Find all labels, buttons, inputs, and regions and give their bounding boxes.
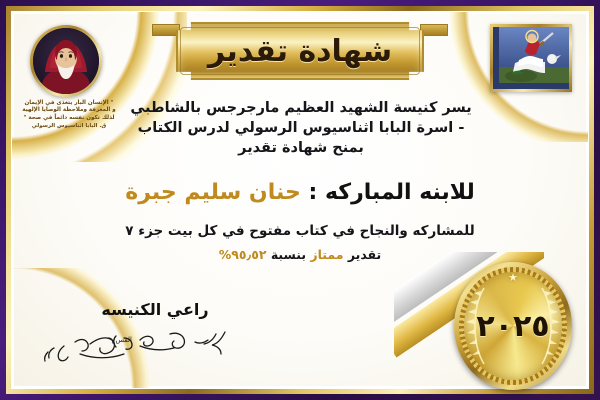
grade-percent: ٩٥٫٥٢% — [219, 247, 267, 262]
achievement-text: للمشاركه والنجاح في كتاب مفتوح في كل بيت… — [70, 222, 530, 241]
left-portrait — [30, 25, 102, 97]
saint-george-icon — [490, 24, 572, 92]
signature-handwriting: القس/ — [20, 318, 270, 368]
plaque-tail-right — [420, 24, 448, 36]
grade-line: تقدير ممتاز بنسبة ٩٥٫٥٢% — [70, 246, 530, 263]
signature-scribble-text: القس/ — [113, 336, 132, 344]
recipient-name: حنان سليم جبرة — [125, 180, 301, 205]
medal-star-icon: ★ — [508, 271, 518, 284]
signature-title: راعي الكنيسه — [60, 300, 250, 319]
certificate-body: يسر كنيسة الشهيد العظيم مارجرجس بالشاطبي… — [120, 98, 482, 158]
body-line-2: - اسرة البابا اثناسيوس الرسولي لدرس الكت… — [120, 118, 482, 138]
certificate-canvas: شهادة تقدير — [0, 0, 600, 400]
medal-year: ٢٠٢٥ — [476, 309, 549, 344]
quote-line-3: لذلك تكون نفسه دائماً في صحة " — [10, 115, 128, 122]
certificate-title: شهادة تقدير — [176, 22, 424, 80]
title-plaque: شهادة تقدير — [176, 22, 424, 80]
body-line-1: يسر كنيسة الشهيد العظيم مارجرجس بالشاطبي — [120, 98, 482, 118]
grade-value: ممتاز — [310, 247, 343, 262]
saint-portrait-icon — [33, 28, 99, 94]
saint-quote: " الإنسان البار يتغذى في الإيمان و المعر… — [10, 100, 128, 131]
medal-face: ٢٠٢٥ — [464, 272, 562, 380]
grade-prefix: تقدير — [348, 247, 381, 262]
recipient-line: للابنه المباركه : حنان سليم جبرة — [60, 178, 540, 208]
award-medal: ٢٠٢٥ ★ — [454, 262, 572, 390]
grade-middle: بنسبة — [271, 247, 306, 262]
quote-line-2: و المعرفة وملاحظة الوصايا الإلهية — [10, 107, 128, 114]
body-line-3: بمنح شهادة تقدير — [120, 138, 482, 158]
recipient-label: للابنه المباركه : — [308, 180, 474, 205]
quote-line-1: " الإنسان البار يتغذى في الإيمان — [10, 100, 128, 107]
quote-source: ق. البابا اثناسيوس الرسولي — [10, 123, 128, 130]
